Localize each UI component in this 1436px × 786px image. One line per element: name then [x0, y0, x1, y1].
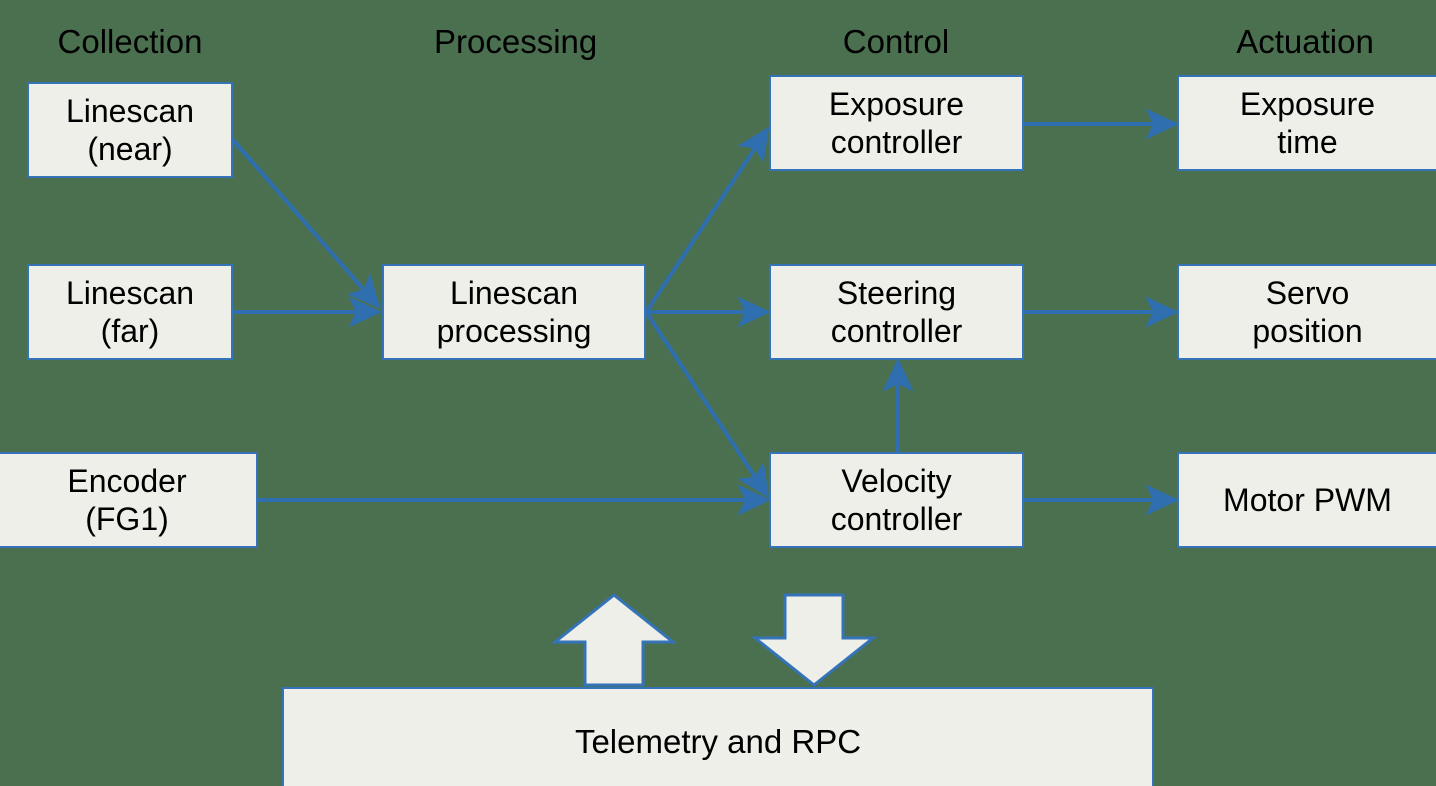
edge-processing-to-exposure	[646, 130, 767, 312]
diagram-canvas: Collection Processing Control Actuation	[0, 0, 1436, 786]
node-linescan-processing[interactable]: Linescan processing	[382, 264, 646, 360]
column-header-actuation: Actuation	[1205, 21, 1405, 62]
node-linescan-near[interactable]: Linescan (near)	[27, 82, 233, 178]
column-header-collection-label: Collection	[58, 23, 203, 60]
column-header-processing-label: Processing	[434, 23, 597, 60]
node-velocity-controller-label: Velocity controller	[777, 462, 1016, 538]
column-header-control: Control	[796, 21, 996, 62]
node-exposure-time-label: Exposure time	[1185, 85, 1430, 161]
node-steering-controller[interactable]: Steering controller	[769, 264, 1024, 360]
column-header-collection: Collection	[30, 21, 230, 62]
block-arrow-down-to-telemetry	[751, 592, 877, 688]
node-motor-pwm[interactable]: Motor PWM	[1177, 452, 1436, 548]
column-header-actuation-label: Actuation	[1236, 23, 1374, 60]
node-linescan-far-label: Linescan (far)	[35, 274, 225, 350]
node-telemetry-rpc-label: Telemetry and RPC	[575, 723, 861, 761]
edge-processing-to-velocity	[646, 312, 767, 495]
node-servo-position-label: Servo position	[1185, 274, 1430, 350]
node-encoder-fg1[interactable]: Encoder (FG1)	[0, 452, 258, 548]
block-arrow-up-to-controllers	[551, 592, 677, 688]
node-linescan-far[interactable]: Linescan (far)	[27, 264, 233, 360]
edge-linescan-near-to-processing	[233, 140, 378, 306]
node-encoder-fg1-label: Encoder (FG1)	[4, 462, 250, 538]
column-header-control-label: Control	[843, 23, 949, 60]
node-linescan-processing-label: Linescan processing	[390, 274, 638, 350]
node-telemetry-rpc[interactable]: Telemetry and RPC	[282, 687, 1154, 786]
node-steering-controller-label: Steering controller	[777, 274, 1016, 350]
node-exposure-controller[interactable]: Exposure controller	[769, 75, 1024, 171]
node-servo-position[interactable]: Servo position	[1177, 264, 1436, 360]
node-exposure-controller-label: Exposure controller	[777, 85, 1016, 161]
node-motor-pwm-label: Motor PWM	[1185, 481, 1430, 519]
node-velocity-controller[interactable]: Velocity controller	[769, 452, 1024, 548]
column-header-processing: Processing	[434, 21, 594, 62]
node-linescan-near-label: Linescan (near)	[35, 92, 225, 168]
node-exposure-time[interactable]: Exposure time	[1177, 75, 1436, 171]
